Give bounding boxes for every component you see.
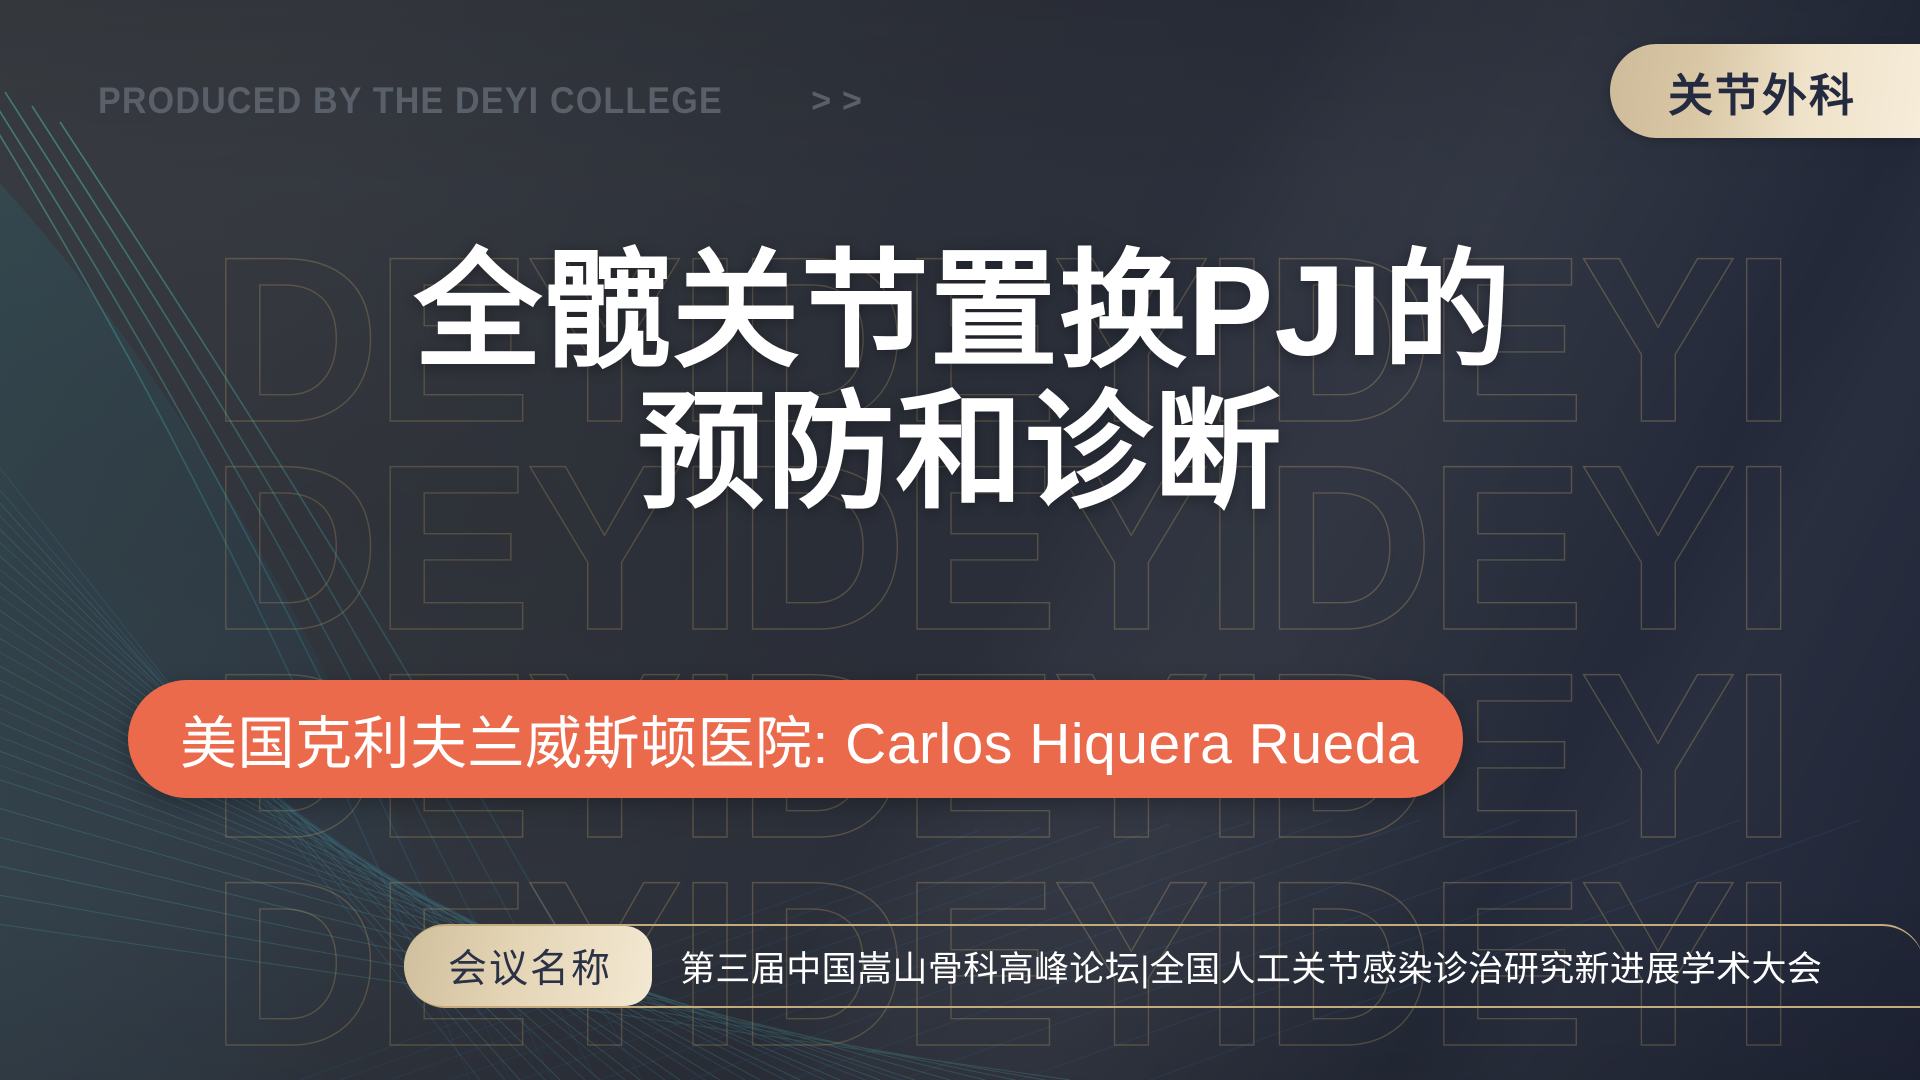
conference-tag-label: 会议名称 [448,938,612,994]
producer-label: PRODUCED BY THE DEYI COLLEGE >> [98,80,873,122]
title-line-1: 全髋关节置换PJI的 [6,242,1920,383]
producer-label-text: PRODUCED BY THE DEYI COLLEGE [98,80,723,122]
department-badge-label: 关节外科 [1668,59,1856,124]
conference-name: 第三届中国嵩山骨科高峰论坛|全国人工关节感染诊治研究新进展学术大会 [652,941,1822,992]
conference-bar: 会议名称 第三届中国嵩山骨科高峰论坛|全国人工关节感染诊治研究新进展学术大会 [404,924,1920,1008]
department-badge: 关节外科 [1610,44,1920,138]
double-chevron-right-icon: >> [811,82,873,121]
speaker-text: 美国克利夫兰威斯顿医院: Carlos Hiquera Rueda [180,698,1419,780]
speaker-bar: 美国克利夫兰威斯顿医院: Carlos Hiquera Rueda [128,680,1463,798]
slide-canvas: DEYIDEYIDEYI DEYIDEYIDEYI DEYIDEYIDEYI D… [0,0,1920,1080]
page-title: 全髋关节置换PJI的 预防和诊断 [0,242,1920,524]
title-line-2: 预防和诊断 [0,383,1920,524]
conference-tag: 会议名称 [404,926,652,1006]
background-gradient [0,0,1920,1080]
